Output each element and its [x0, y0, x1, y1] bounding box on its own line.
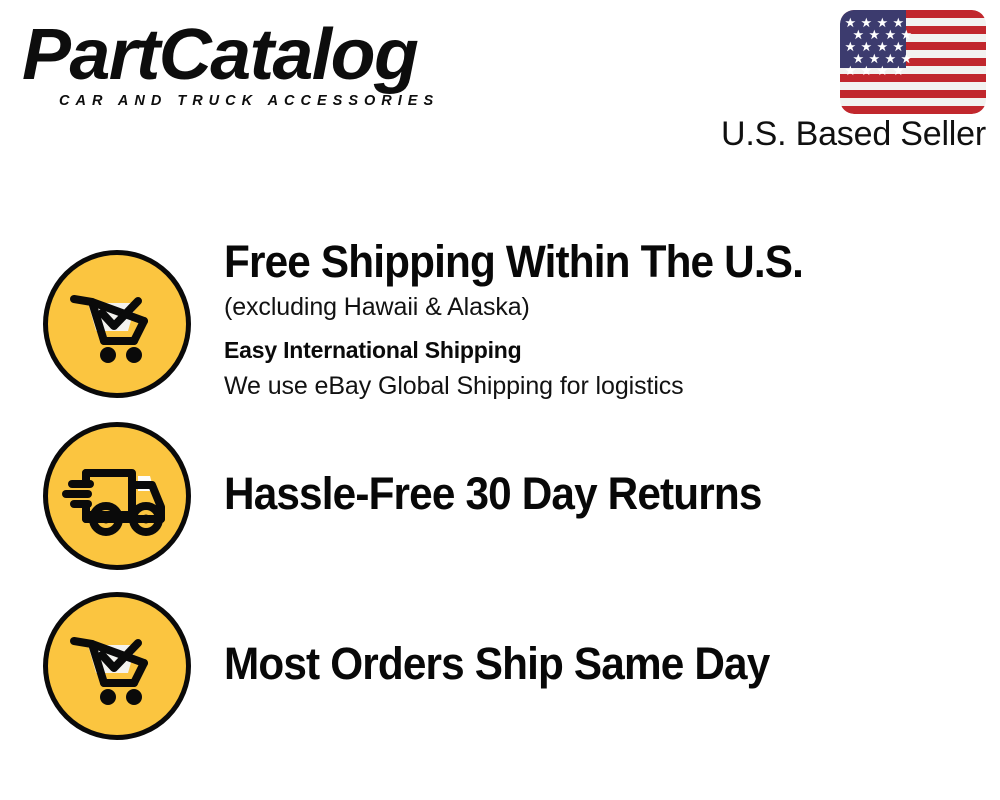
benefit-row: Most Orders Ship Same Day	[0, 590, 1000, 742]
brand-tagline: CAR AND TRUCK ACCESSORIES	[59, 93, 492, 109]
benefit-headline: Hassle-Free 30 Day Returns	[224, 471, 762, 516]
brand-logo: PartCatalog CAR AND TRUCK ACCESSORIES	[22, 22, 492, 109]
page-header: PartCatalog CAR AND TRUCK ACCESSORIES	[0, 0, 1000, 180]
us-based-seller-label: U.S. Based Seller	[721, 117, 986, 151]
delivery-truck-glyph	[48, 427, 186, 565]
benefit-headline: Free Shipping Within The U.S.	[224, 239, 803, 284]
brand-wordmark: PartCatalog	[22, 22, 501, 88]
shopping-cart-check-icon	[43, 592, 191, 740]
benefit-subline-international-title: Easy International Shipping	[224, 339, 521, 362]
benefit-row: Hassle-Free 30 Day Returns	[0, 420, 1000, 572]
benefit-row: Free Shipping Within The U.S. (excluding…	[0, 248, 1000, 400]
shopping-cart-check-glyph	[48, 255, 186, 393]
shopping-cart-check-icon	[43, 250, 191, 398]
benefit-subline-logistics: We use eBay Global Shipping for logistic…	[224, 374, 684, 399]
shopping-cart-check-glyph	[48, 597, 186, 735]
us-flag-badge	[840, 10, 986, 114]
delivery-truck-icon	[43, 422, 191, 570]
us-flag-icon	[840, 10, 986, 114]
benefit-headline: Most Orders Ship Same Day	[224, 641, 769, 686]
benefit-subline-exclusions: (excluding Hawaii & Alaska)	[224, 295, 530, 320]
